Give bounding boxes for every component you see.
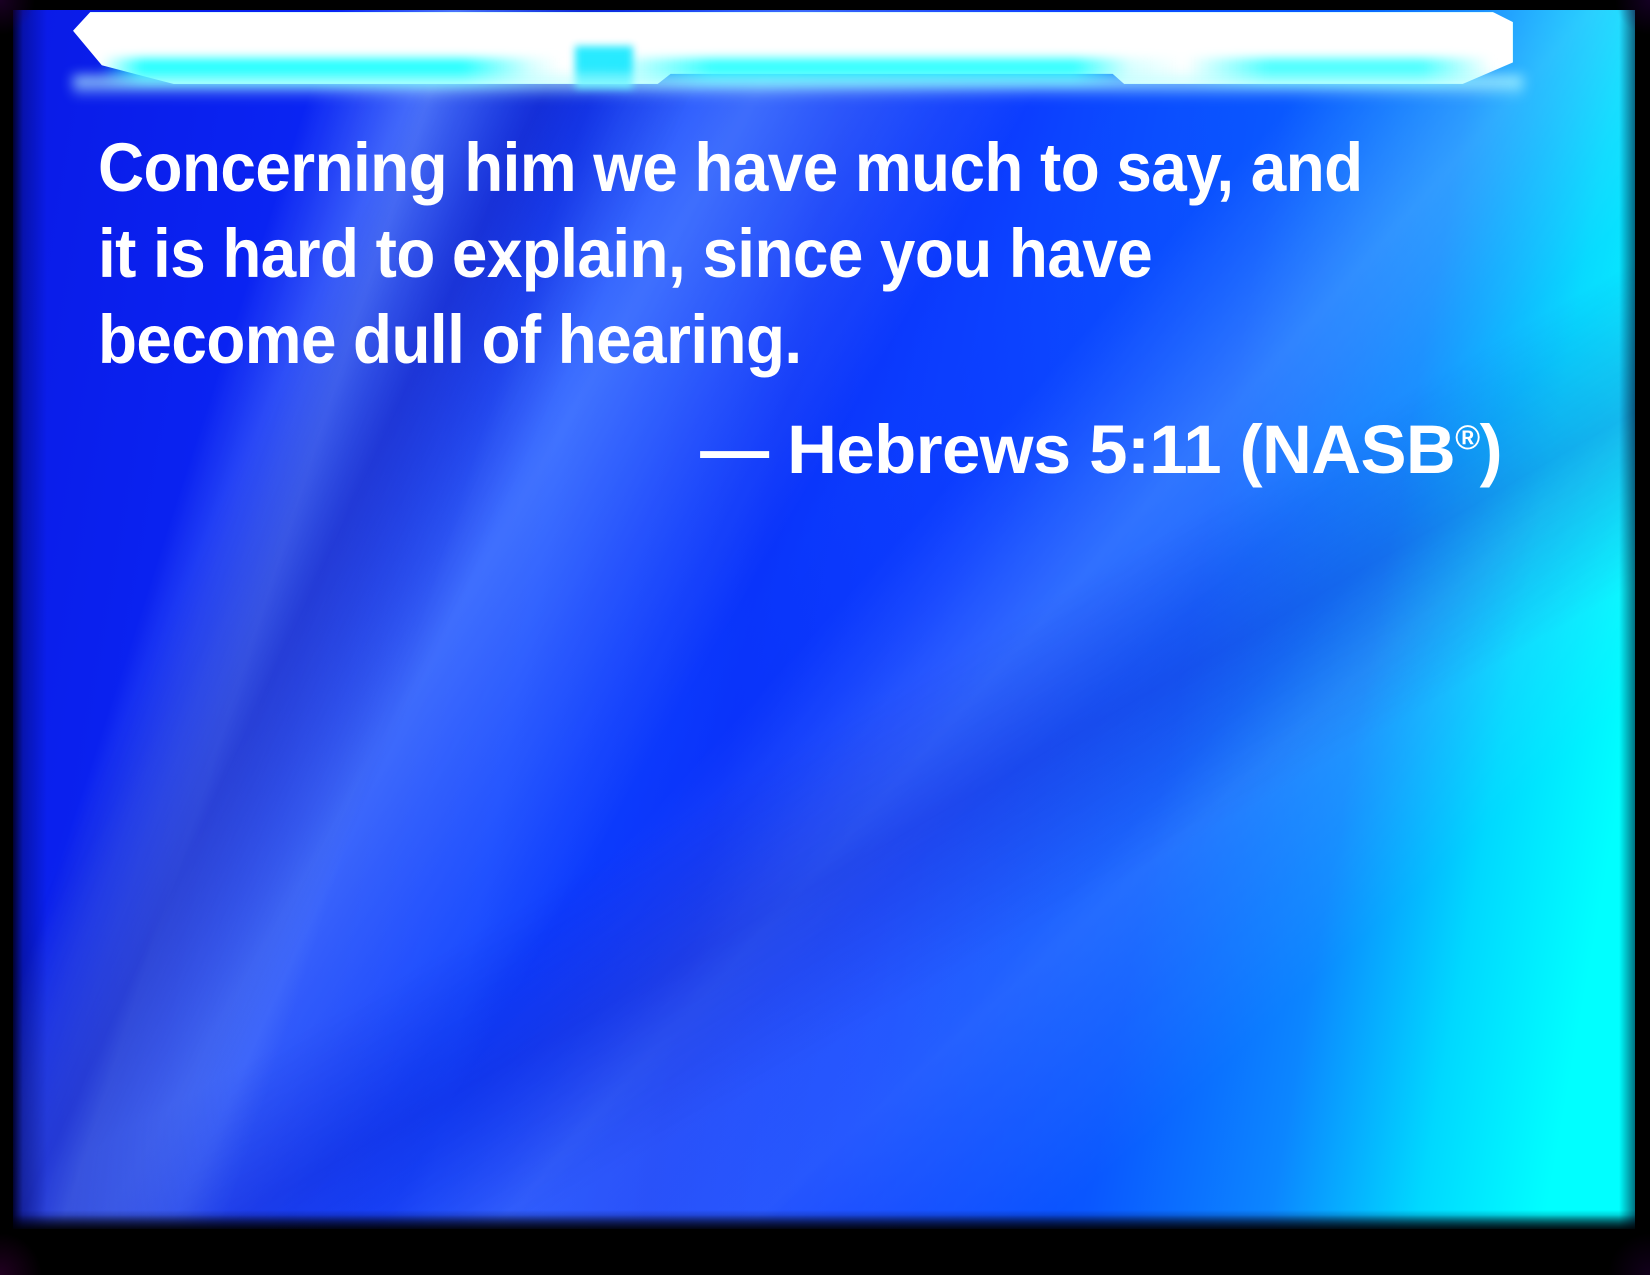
- verse-text-block: Concerning him we have much to say, and …: [98, 125, 1518, 493]
- verse-attribution: — Hebrews 5:11 (NASB®): [98, 407, 1518, 493]
- verse-line-3: become dull of hearing.: [98, 297, 1412, 383]
- registered-trademark-icon: ®: [1455, 419, 1479, 457]
- top-glow-bar-underwash: [73, 76, 1523, 98]
- attribution-reference: 5:11: [1089, 411, 1221, 488]
- attribution-book: Hebrews: [787, 411, 1070, 488]
- verse-line-1: Concerning him we have much to say, and: [98, 125, 1412, 211]
- attribution-translation-close: ): [1480, 411, 1502, 488]
- bottom-black-band: [0, 1229, 1650, 1275]
- verse-background-canvas: Concerning him we have much to say, and …: [13, 10, 1635, 1232]
- verse-line-2: it is hard to explain, since you have: [98, 211, 1412, 297]
- attribution-translation-open: (NASB: [1240, 411, 1456, 488]
- verse-image-frame: Concerning him we have much to say, and …: [0, 0, 1650, 1275]
- attribution-em-dash: —: [700, 411, 768, 488]
